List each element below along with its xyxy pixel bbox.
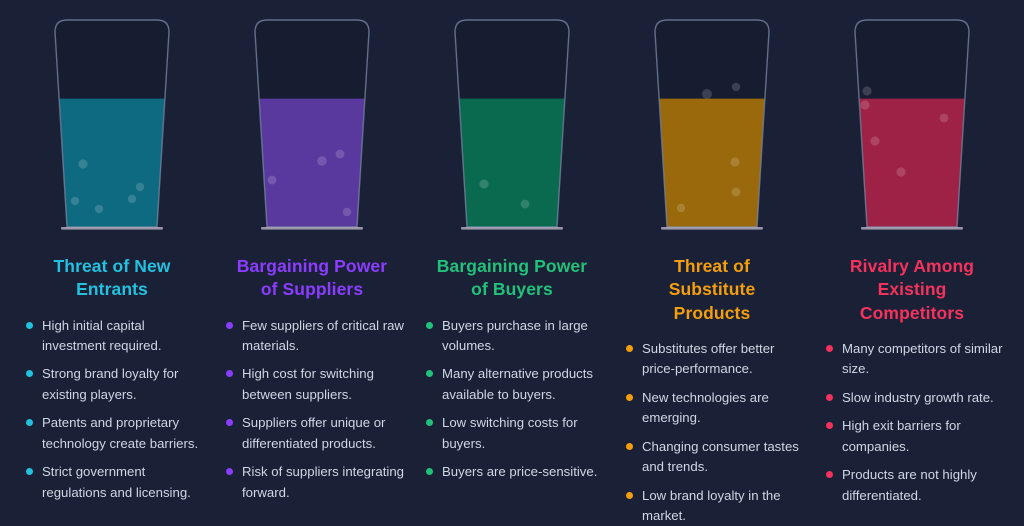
bullet-text: Many alternative products available to b… bbox=[442, 366, 593, 401]
bubble-icon bbox=[479, 179, 488, 188]
glass-threat-of-new-entrants bbox=[37, 14, 187, 239]
bullet-text: Substitutes offer better price-performan… bbox=[642, 341, 774, 376]
glass-bargaining-power-of-buyers bbox=[437, 14, 587, 239]
list-item: Buyers are price-sensitive. bbox=[424, 462, 604, 482]
bubble-icon bbox=[896, 167, 905, 176]
bullet-dot-icon bbox=[26, 322, 33, 329]
bubble-icon bbox=[136, 183, 144, 191]
bullet-dot-icon bbox=[426, 468, 433, 475]
glass-liquid bbox=[860, 99, 965, 227]
glass-liquid bbox=[660, 99, 765, 227]
glass-bargaining-power-of-suppliers bbox=[237, 14, 387, 239]
bullet-text: Buyers purchase in large volumes. bbox=[442, 318, 588, 353]
force-column-threat-of-new-entrants: Threat of New EntrantsHigh initial capit… bbox=[12, 0, 212, 511]
bullet-text: High exit barriers for companies. bbox=[842, 418, 961, 453]
list-item: Few suppliers of critical raw materials. bbox=[224, 316, 404, 357]
bullet-text: Low brand loyalty in the market. bbox=[642, 488, 781, 523]
bubble-icon bbox=[677, 204, 685, 212]
bubble-icon bbox=[95, 205, 103, 213]
list-item: Changing consumer tastes and trends. bbox=[624, 437, 804, 478]
bubble-icon bbox=[732, 83, 740, 91]
list-item: High exit barriers for companies. bbox=[824, 416, 1004, 457]
bullet-dot-icon bbox=[426, 322, 433, 329]
list-item: Products are not highly differentiated. bbox=[824, 465, 1004, 506]
glass-base bbox=[861, 227, 963, 230]
bubble-icon bbox=[128, 195, 136, 203]
bubble-icon bbox=[268, 176, 277, 185]
force-title-threat-of-new-entrants: Threat of New Entrants bbox=[53, 255, 170, 302]
bubble-icon bbox=[860, 100, 869, 109]
bullet-text: Patents and proprietary technology creat… bbox=[42, 415, 198, 450]
bubble-icon bbox=[870, 136, 879, 145]
list-item: Many competitors of similar size. bbox=[824, 339, 1004, 380]
list-item: Suppliers offer unique or differentiated… bbox=[224, 413, 404, 454]
bullet-text: High initial capital investment required… bbox=[42, 318, 161, 353]
glass-base bbox=[261, 227, 363, 230]
glass-threat-of-substitute-products bbox=[637, 14, 787, 239]
bullet-text: Strong brand loyalty for existing player… bbox=[42, 366, 178, 401]
bullet-dot-icon bbox=[826, 394, 833, 401]
force-column-bargaining-power-of-suppliers: Bargaining Power of SuppliersFew supplie… bbox=[212, 0, 412, 511]
bullet-dot-icon bbox=[826, 422, 833, 429]
bullet-dot-icon bbox=[426, 419, 433, 426]
list-item: Strong brand loyalty for existing player… bbox=[24, 364, 204, 405]
bullet-dot-icon bbox=[226, 370, 233, 377]
bullet-dot-icon bbox=[26, 468, 33, 475]
list-item: Slow industry growth rate. bbox=[824, 388, 1004, 408]
bullet-text: Many competitors of similar size. bbox=[842, 341, 1003, 376]
force-title-threat-of-substitute-products: Threat of Substitute Products bbox=[669, 255, 756, 325]
force-title-bargaining-power-of-buyers: Bargaining Power of Buyers bbox=[437, 255, 587, 302]
bullet-list-bargaining-power-of-buyers: Buyers purchase in large volumes.Many al… bbox=[420, 316, 604, 491]
force-column-rivalry-among-existing-competitors: Rivalry Among Existing CompetitorsMany c… bbox=[812, 0, 1012, 514]
bullet-dot-icon bbox=[826, 471, 833, 478]
list-item: Substitutes offer better price-performan… bbox=[624, 339, 804, 380]
bullet-dot-icon bbox=[626, 394, 633, 401]
bubble-icon bbox=[521, 200, 530, 209]
list-item: New technologies are emerging. bbox=[624, 388, 804, 429]
bullet-dot-icon bbox=[626, 492, 633, 499]
bullet-dot-icon bbox=[626, 345, 633, 352]
bullet-text: Slow industry growth rate. bbox=[842, 390, 994, 405]
bubble-icon bbox=[730, 157, 739, 166]
bullet-text: New technologies are emerging. bbox=[642, 390, 769, 425]
list-item: Buyers purchase in large volumes. bbox=[424, 316, 604, 357]
glass-liquid bbox=[60, 99, 165, 227]
force-column-bargaining-power-of-buyers: Bargaining Power of BuyersBuyers purchas… bbox=[412, 0, 612, 491]
bubble-icon bbox=[702, 89, 712, 99]
bullet-dot-icon bbox=[226, 322, 233, 329]
glass-base bbox=[61, 227, 163, 230]
bullet-dot-icon bbox=[226, 468, 233, 475]
list-item: Risk of suppliers integrating forward. bbox=[224, 462, 404, 503]
glass-liquid bbox=[260, 99, 365, 227]
list-item: High initial capital investment required… bbox=[24, 316, 204, 357]
bullet-dot-icon bbox=[226, 419, 233, 426]
bullet-text: Buyers are price-sensitive. bbox=[442, 464, 597, 479]
force-title-rivalry-among-existing-competitors: Rivalry Among Existing Competitors bbox=[850, 255, 974, 325]
list-item: Low switching costs for buyers. bbox=[424, 413, 604, 454]
bullet-list-bargaining-power-of-suppliers: Few suppliers of critical raw materials.… bbox=[220, 316, 404, 512]
bubble-icon bbox=[343, 208, 351, 216]
bullet-text: High cost for switching between supplier… bbox=[242, 366, 374, 401]
bullet-dot-icon bbox=[626, 443, 633, 450]
force-column-threat-of-substitute-products: Threat of Substitute ProductsSubstitutes… bbox=[612, 0, 812, 526]
bullet-dot-icon bbox=[26, 419, 33, 426]
bullet-dot-icon bbox=[26, 370, 33, 377]
bubble-icon bbox=[71, 197, 79, 205]
bullet-text: Products are not highly differentiated. bbox=[842, 467, 977, 502]
bullet-list-rivalry-among-existing-competitors: Many competitors of similar size.Slow in… bbox=[820, 339, 1004, 514]
glass-base bbox=[661, 227, 763, 230]
bubble-icon bbox=[940, 114, 949, 123]
list-item: High cost for switching between supplier… bbox=[224, 364, 404, 405]
bullet-text: Few suppliers of critical raw materials. bbox=[242, 318, 404, 353]
bubble-icon bbox=[862, 86, 871, 95]
bubble-icon bbox=[336, 150, 345, 159]
bullet-text: Risk of suppliers integrating forward. bbox=[242, 464, 404, 499]
force-title-bargaining-power-of-suppliers: Bargaining Power of Suppliers bbox=[237, 255, 387, 302]
glass-base bbox=[461, 227, 563, 230]
list-item: Low brand loyalty in the market. bbox=[624, 486, 804, 526]
bullet-text: Changing consumer tastes and trends. bbox=[642, 439, 799, 474]
list-item: Patents and proprietary technology creat… bbox=[24, 413, 204, 454]
bullet-text: Strict government regulations and licens… bbox=[42, 464, 191, 499]
glass-liquid bbox=[460, 99, 565, 227]
bullet-dot-icon bbox=[426, 370, 433, 377]
glass-rivalry-among-existing-competitors bbox=[837, 14, 987, 239]
list-item: Many alternative products available to b… bbox=[424, 364, 604, 405]
list-item: Strict government regulations and licens… bbox=[24, 462, 204, 503]
bullet-list-threat-of-substitute-products: Substitutes offer better price-performan… bbox=[620, 339, 804, 526]
bullet-list-threat-of-new-entrants: High initial capital investment required… bbox=[20, 316, 204, 512]
bullet-text: Suppliers offer unique or differentiated… bbox=[242, 415, 385, 450]
bubble-icon bbox=[317, 156, 327, 166]
porters-five-forces-infographic: Threat of New EntrantsHigh initial capit… bbox=[0, 0, 1024, 526]
bubble-icon bbox=[78, 159, 87, 168]
bubble-icon bbox=[732, 188, 741, 197]
bullet-dot-icon bbox=[826, 345, 833, 352]
bullet-text: Low switching costs for buyers. bbox=[442, 415, 578, 450]
